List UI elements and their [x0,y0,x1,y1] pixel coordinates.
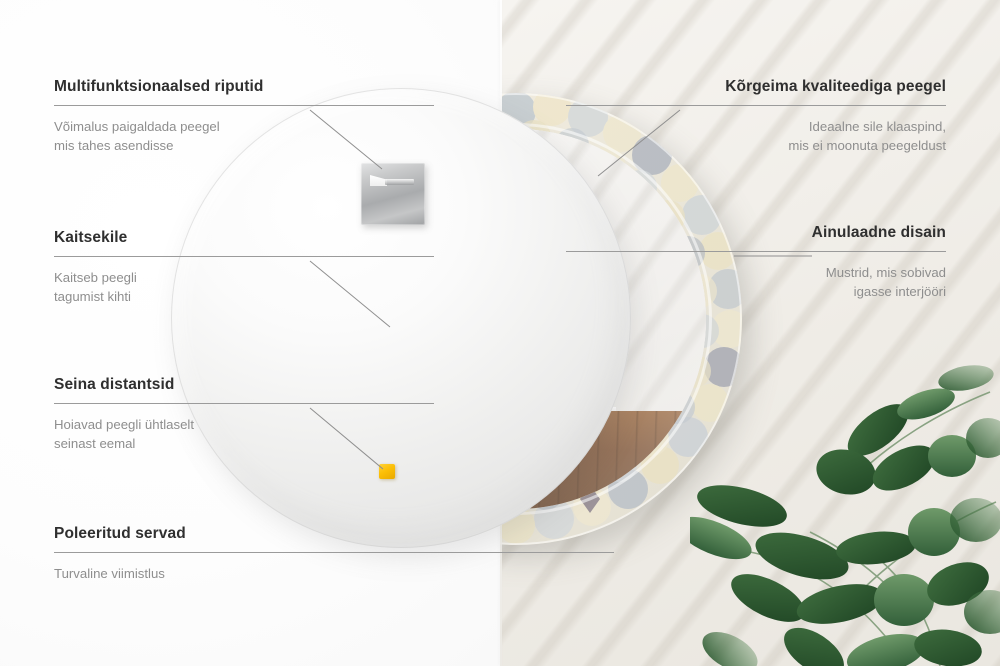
feature-rule [566,105,946,106]
feature-title: Ainulaadne disain [566,224,946,242]
feature-description: Turvaline viimistlus [54,565,434,584]
infographic-canvas: Multifunktsionaalsed riputid Võimalus pa… [0,0,1000,666]
feature-polished-edges: Poleeritud servad Turvaline viimistlus [54,525,434,584]
feature-description: Mustrid, mis sobivad igasse interjööri [566,264,946,301]
feature-rule [566,251,946,252]
feature-rule [54,256,434,257]
feature-rule [54,403,434,404]
feature-title: Poleeritud servad [54,525,434,543]
wall-spacer-chip [379,464,395,479]
feature-description: Ideaalne sile klaaspind, mis ei moonuta … [566,118,946,155]
feature-multifunctional-hangers: Multifunktsionaalsed riputid Võimalus pa… [54,78,434,155]
disc-rim [171,88,631,548]
slot-line [385,179,414,185]
feature-title: Seina distantsid [54,376,434,394]
feature-wall-spacers: Seina distantsid Hoiavad peegli ühtlasel… [54,376,434,453]
feature-rule [54,105,434,106]
feature-unique-design: Ainulaadne disain Mustrid, mis sobivad i… [566,224,946,301]
feature-description: Hoiavad peegli ühtlaselt seinast eemal [54,416,434,453]
feature-title: Multifunktsionaalsed riputid [54,78,434,96]
feature-rule [54,552,614,553]
mirror-back-disc [171,88,631,548]
feature-description: Kaitseb peegli tagumist kihti [54,269,434,306]
feature-highest-quality-mirror: Kõrgeima kvaliteediga peegel Ideaalne si… [566,78,946,155]
hanger-plate [361,163,425,225]
feature-description: Võimalus paigaldada peegel mis tahes ase… [54,118,434,155]
feature-title: Kaitsekile [54,229,434,247]
hanger-keyhole-slot [370,175,414,186]
feature-protective-film: Kaitsekile Kaitseb peegli tagumist kihti [54,229,434,306]
feature-title: Kõrgeima kvaliteediga peegel [566,78,946,96]
